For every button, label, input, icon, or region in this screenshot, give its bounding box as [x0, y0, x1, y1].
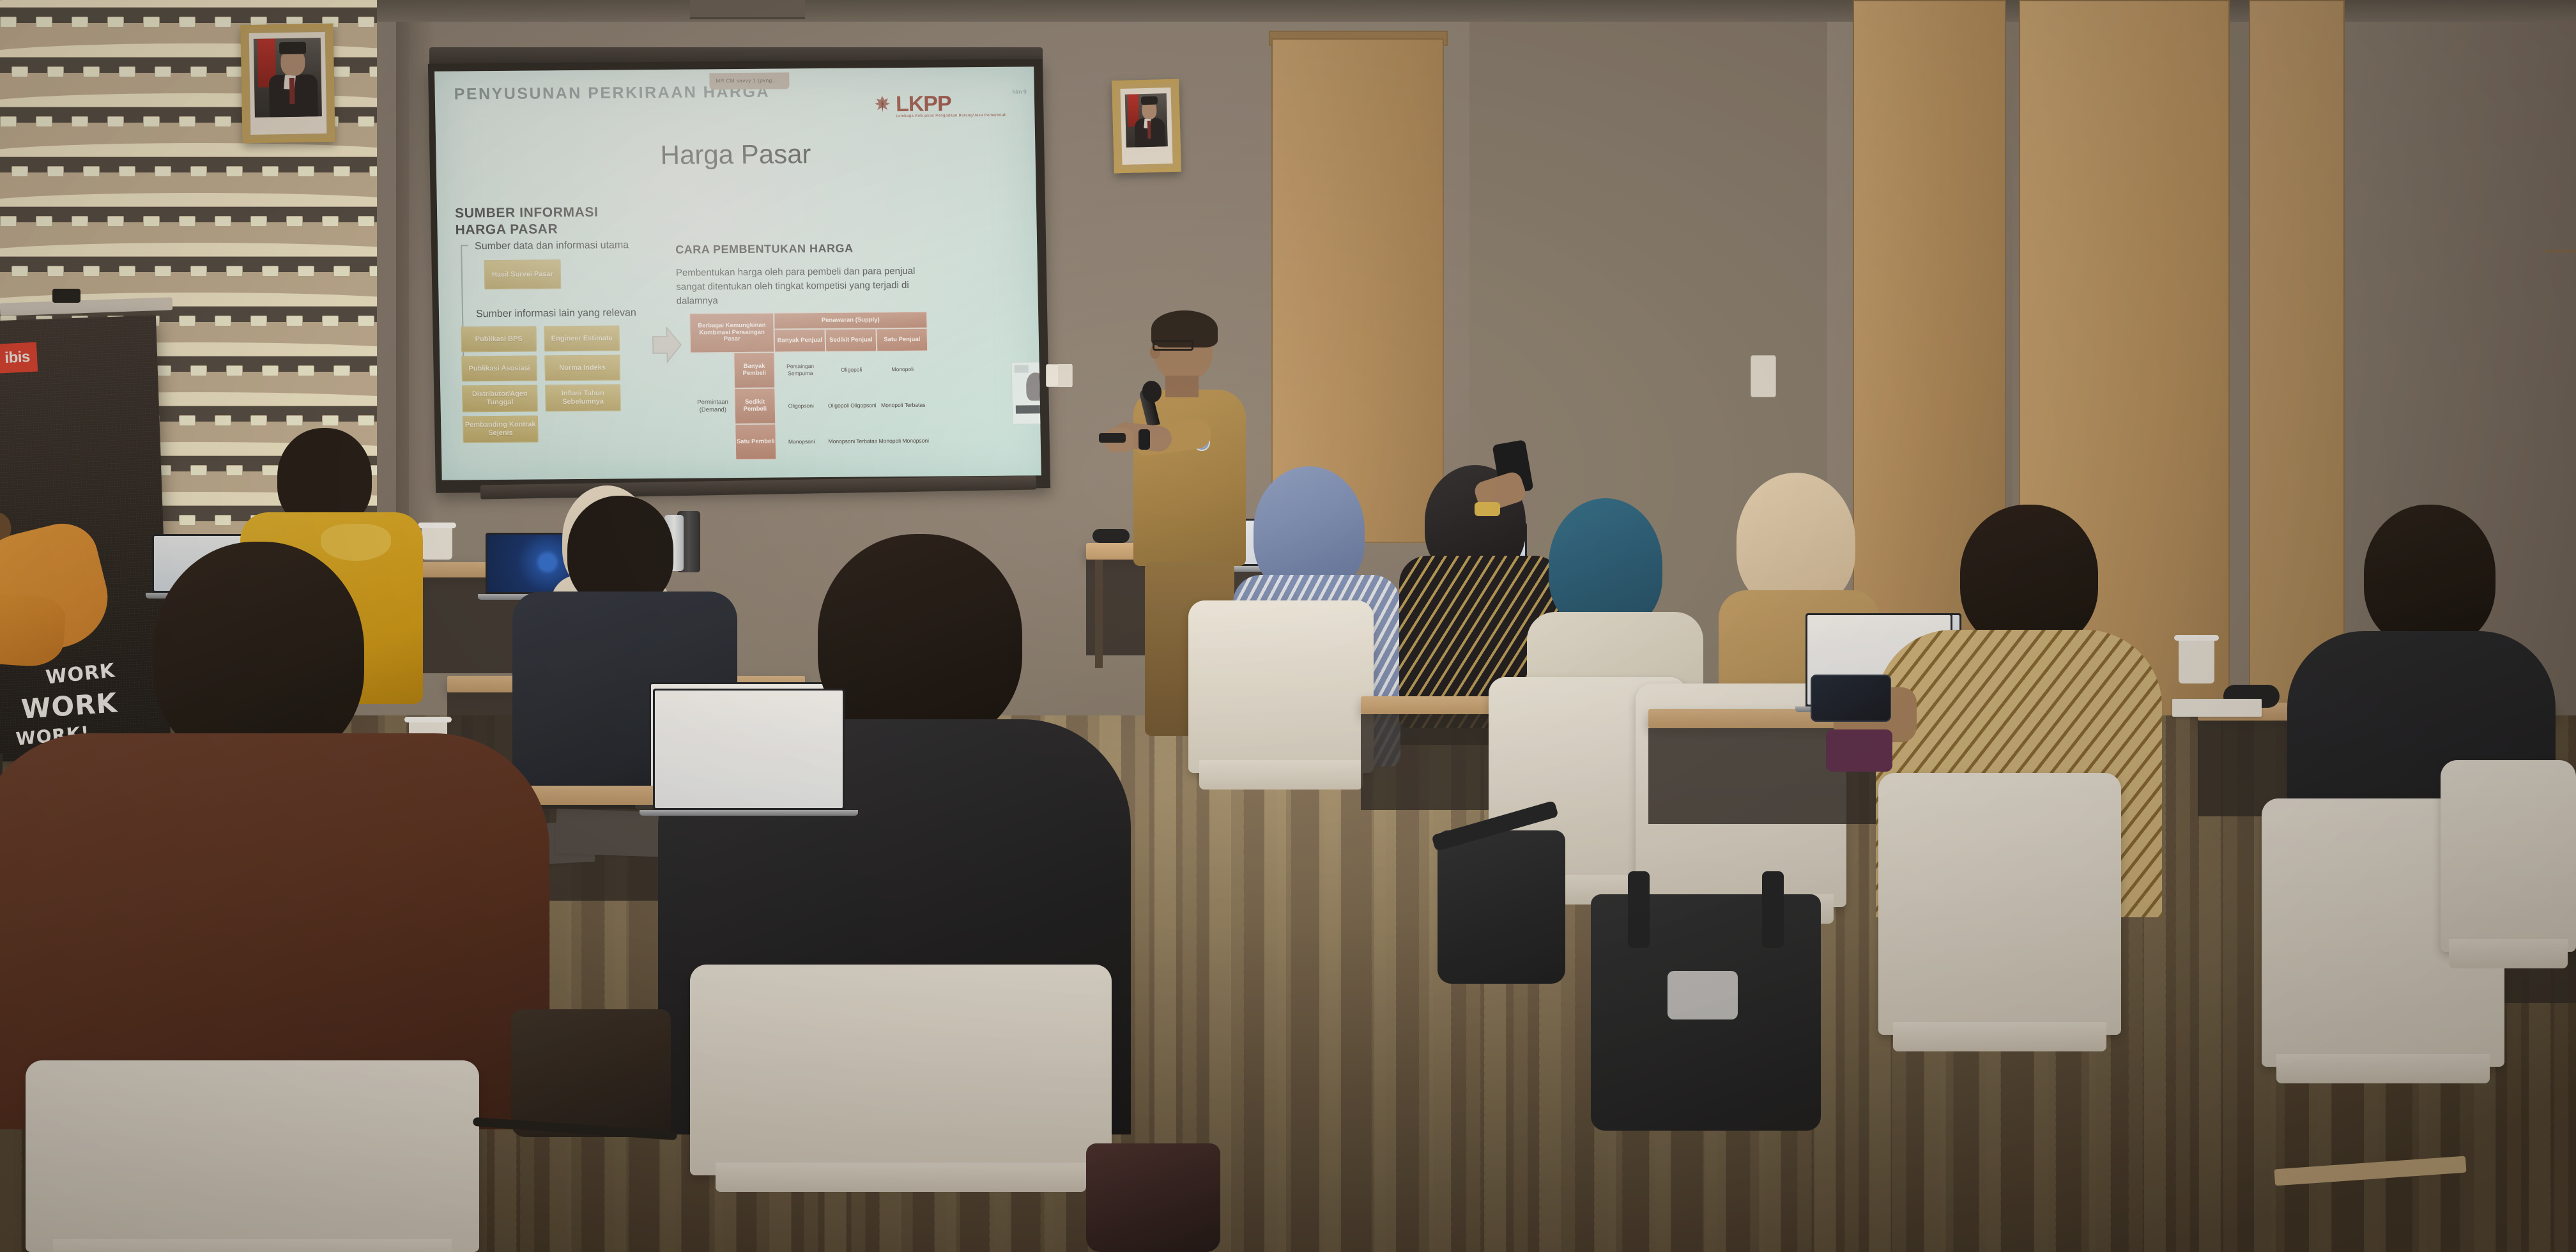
backpack-logo-patch	[1667, 971, 1738, 1019]
matrix-cell-1-1: Oligopoli Oligopsoni	[826, 387, 878, 424]
mural-seat	[72, 116, 88, 127]
hijab	[1549, 498, 1662, 631]
matrix-cell-1-0: Oligopsoni	[775, 388, 827, 424]
chair-front-left[interactable]	[26, 1060, 479, 1252]
mural-seat	[11, 166, 28, 177]
mural-seat	[226, 166, 243, 177]
mural-seat	[72, 216, 88, 227]
mural-seat	[226, 66, 243, 77]
mural-seat	[190, 66, 207, 77]
mural-seat	[0, 116, 17, 127]
smartphone[interactable]	[1811, 675, 1891, 722]
mural-seat	[215, 515, 231, 526]
mural-seat	[179, 17, 195, 27]
video-call-participant-thumbnail: •••	[1011, 362, 1041, 425]
slide-right-paragraph: Pembentukan harga oleh para pembeli dan …	[676, 264, 921, 308]
mural-seat	[155, 266, 171, 277]
mural-seat	[83, 266, 100, 277]
attendee-head	[153, 542, 364, 765]
chair-right-c[interactable]	[2441, 760, 2576, 952]
mural-seat	[369, 166, 377, 177]
source-box-2: Publikasi Asosiasi	[461, 355, 537, 381]
wall-telephone[interactable]	[1751, 355, 1776, 397]
matrix-cell-2-2: Monopoli Monopsoni	[878, 423, 930, 459]
mural-seat	[215, 17, 231, 27]
source-box-6: Pembanding Kontrak Sejenis	[463, 415, 539, 443]
mural-seat	[358, 116, 374, 127]
door-panel-seam	[2545, 250, 2576, 252]
backpack-floor-center	[1591, 894, 1821, 1131]
mural-seat	[143, 116, 160, 127]
portrait-nameplate	[255, 123, 322, 133]
market-structure-matrix: Berbagai Kemungkinan Kombinasi Persainga…	[689, 312, 930, 461]
chair-front-center[interactable]	[690, 965, 1112, 1175]
hijab	[1736, 473, 1855, 608]
mural-seat	[83, 166, 100, 177]
chair-right-a[interactable]	[1878, 773, 2121, 1035]
mural-seat	[0, 17, 17, 27]
primary-source-box: Hasil Survei Pasar	[484, 259, 561, 289]
flipchart-clip	[52, 289, 80, 303]
mural-seat	[262, 365, 279, 376]
laptop-screen-blank	[655, 691, 843, 808]
mural-seat	[369, 266, 377, 277]
mural-seat	[179, 415, 195, 426]
mural-seat	[107, 116, 124, 127]
bag-floor-front	[1086, 1143, 1220, 1252]
backpack-strap	[1628, 871, 1650, 948]
ibis-logo-text: ibis	[4, 348, 31, 367]
mural-seat	[155, 66, 171, 77]
mural-seat	[83, 66, 100, 77]
mural-seat	[119, 166, 135, 177]
attendee-front-left	[0, 542, 549, 1117]
mural-seat	[11, 266, 28, 277]
mural-seat	[155, 166, 171, 177]
presenter-neck	[1165, 376, 1199, 397]
lkpp-logo-subtext: Lembaga Kebijakan Pengadaan Barang/Jasa …	[896, 113, 1006, 118]
mural-seat	[358, 316, 374, 326]
matrix-demand-row-1: Sedikit Pembeli	[734, 388, 776, 424]
laptop-bag-floor	[1437, 830, 1565, 984]
mural-seat	[369, 66, 377, 77]
matrix-supply-group-label: Penawaran (Supply)	[774, 312, 927, 330]
mural-seat	[119, 266, 135, 277]
mural-seat	[286, 316, 303, 326]
gold-bracelet-icon	[1475, 502, 1500, 516]
portrait-image	[254, 38, 322, 118]
mural-seat	[333, 266, 350, 277]
mural-seat	[36, 216, 52, 227]
matrix-supply-col-0: Banyak Penjual	[774, 329, 826, 353]
wristwatch-icon	[1138, 429, 1150, 450]
mural-seat	[215, 316, 231, 326]
slide-left-sub-2: Sumber informasi lain yang relevan	[476, 307, 636, 320]
mural-seat	[250, 216, 267, 227]
matrix-cell-2-0: Monopsoni	[776, 424, 827, 460]
slide-page-number: hlm 9	[1013, 88, 1027, 95]
mural-seat	[215, 415, 231, 426]
mural-seat	[36, 17, 52, 27]
matrix-cell-2-1: Monopsoni Terbatas	[827, 423, 878, 459]
mural-seat	[47, 66, 64, 77]
matrix-cell-0-0: Persaingan Sempurna	[774, 352, 826, 388]
mural-seat	[358, 415, 374, 426]
mural-seat	[226, 266, 243, 277]
mural-seat	[333, 66, 350, 77]
matrix-demand-row-2: Satu Pembeli	[735, 424, 776, 460]
glasses-icon	[1153, 340, 1193, 351]
projection-screen: PENYUSUNAN PERKIRAAN HARGA MR CM savvy 1…	[428, 59, 1050, 492]
mural-seat	[36, 116, 52, 127]
mural-seat	[143, 216, 160, 227]
attendee-head	[818, 534, 1022, 745]
mural-seat	[190, 166, 207, 177]
mural-seat	[226, 465, 243, 476]
source-box-3: Norma Indeks	[544, 355, 620, 381]
mural-seat	[358, 17, 374, 27]
source-box-4: Distributor/Agen Tunggal	[462, 385, 538, 412]
slide-right-heading: CARA PEMBENTUKAN HARGA	[675, 241, 931, 257]
purple-sleeve	[1826, 729, 1892, 772]
right-arrow-icon	[650, 325, 682, 365]
laptop-front-center[interactable]	[653, 689, 845, 810]
mural-seat	[215, 216, 231, 227]
mural-seat	[250, 316, 267, 326]
portrait-tie	[289, 77, 295, 104]
peci-cap-icon	[279, 42, 306, 54]
matrix-demand-row-0: Banyak Pembeli	[733, 353, 775, 388]
source-box-0: Publikasi BPS	[461, 326, 537, 352]
attendee-head	[2364, 505, 2495, 648]
bag-floor-left	[511, 1009, 671, 1137]
matrix-cell-0-1: Oligopoli	[825, 351, 877, 388]
presentation-clicker[interactable]	[1099, 433, 1126, 443]
laptop-base	[640, 810, 858, 816]
garuda-icon	[873, 95, 893, 118]
vc-participant-silhouette	[1026, 372, 1041, 401]
mural-seat	[190, 465, 207, 476]
mural-seat	[322, 415, 339, 426]
mural-seat	[333, 166, 350, 177]
mural-seat	[322, 216, 339, 227]
mural-seat	[0, 216, 17, 227]
mural-seat	[143, 17, 160, 27]
mural-seat	[179, 216, 195, 227]
wall-socket-switch[interactable]	[1058, 364, 1072, 387]
mural-seat	[119, 66, 135, 77]
paper-cup[interactable]	[2179, 639, 2214, 683]
mural-seat	[47, 266, 64, 277]
mural-seat	[358, 216, 374, 227]
portrait-image	[1125, 93, 1168, 148]
training-room-photo: PENYUSUNAN PERKIRAAN HARGA MR CM savvy 1…	[0, 0, 2576, 1252]
cup-lid	[2174, 635, 2218, 641]
mural-seat	[190, 365, 207, 376]
mural-seat	[107, 17, 124, 27]
mural-seat	[72, 17, 88, 27]
mural-seat	[179, 116, 195, 127]
vc-label-bar	[1016, 405, 1041, 413]
source-box-1: Engineer Estimate	[544, 325, 620, 351]
matrix-cell-0-2: Monopoli	[877, 351, 928, 388]
backpack-strap	[1762, 871, 1784, 948]
mural-seat	[215, 116, 231, 127]
lkpp-logo-text-wrap: LKPP Lembaga Kebijakan Pengadaan Barang/…	[896, 94, 1007, 118]
portrait-tie	[1147, 120, 1151, 138]
matrix-demand-label: Permintaan (Demand)	[690, 353, 735, 461]
mural-seat	[286, 415, 303, 426]
official-portrait-vice-president	[1112, 79, 1181, 174]
ibis-logo: ibis	[0, 342, 38, 374]
matrix-supply-col-2: Satu Penjual	[877, 328, 928, 352]
mural-seat	[286, 216, 303, 227]
mural-seat	[333, 365, 350, 376]
mural-seat	[226, 365, 243, 376]
slide-left-sub-1: Sumber data dan informasi utama	[475, 240, 629, 252]
lkpp-logo-text: LKPP	[896, 94, 1007, 114]
chair-center-a[interactable]	[1188, 600, 1374, 773]
mural-seat	[369, 365, 377, 376]
peci-cap-icon	[1140, 96, 1157, 105]
mural-seat	[190, 266, 207, 277]
slide-window-tab-label: MR CM savvy 1 (pkng..	[709, 72, 789, 84]
mural-seat	[298, 166, 314, 177]
attendee-head	[1960, 505, 2098, 649]
source-box-5: Inflasi Tahun Sebelumnya	[545, 384, 621, 411]
ceiling-vent	[690, 0, 805, 19]
matrix-supply-col-1: Sedikit Penjual	[825, 328, 877, 352]
laptop-lid	[653, 689, 845, 810]
portrait-nameplate	[1126, 153, 1168, 163]
mural-seat	[322, 316, 339, 326]
vc-name-tag	[1015, 365, 1029, 372]
mural-seat	[298, 365, 314, 376]
matrix-corner-label: Berbagai Kemungkinan Kombinasi Persainga…	[689, 313, 774, 353]
mural-seat	[262, 166, 279, 177]
mural-seat	[262, 266, 279, 277]
mural-seat	[107, 216, 124, 227]
mural-seat	[179, 515, 195, 526]
matrix-cell-1-2: Monopoli Terbatas	[877, 387, 929, 424]
mural-seat	[298, 266, 314, 277]
mural-seat	[179, 316, 195, 326]
presentation-slide: PENYUSUNAN PERKIRAAN HARGA MR CM savvy 1…	[434, 66, 1041, 480]
mural-seat	[11, 66, 28, 77]
slide-left-heading: SUMBER INFORMASI HARGA PASAR	[455, 204, 647, 238]
official-portrait-president	[240, 24, 335, 144]
paper-note	[2172, 699, 2262, 717]
mural-seat	[47, 166, 64, 177]
slide-window-tab: MR CM savvy 1 (pkng..	[709, 72, 789, 89]
mural-seat	[250, 415, 267, 426]
slide-title: Harga Pasar	[436, 137, 1036, 172]
lkpp-logo: LKPP Lembaga Kebijakan Pengadaan Barang/…	[873, 94, 1007, 118]
